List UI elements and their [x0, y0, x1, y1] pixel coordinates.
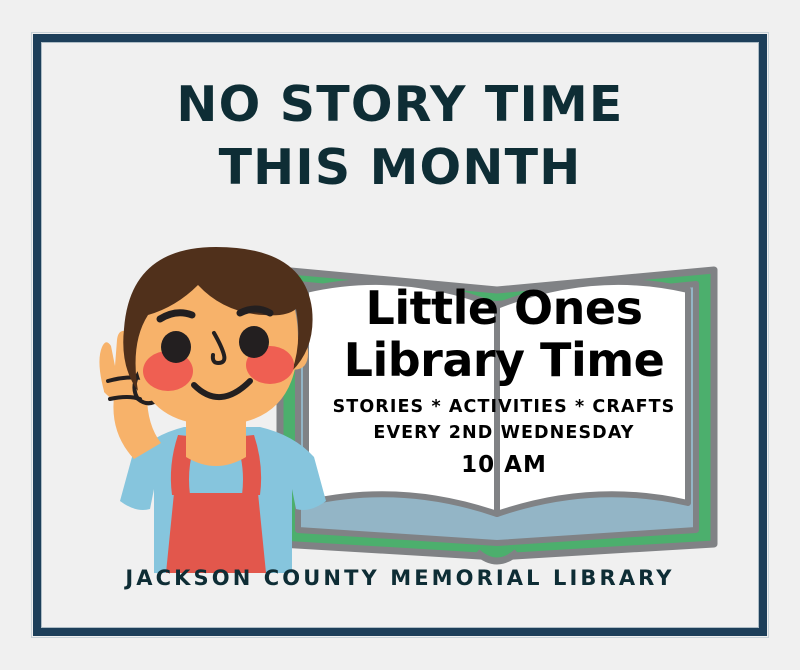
- book-page-text: Little Ones Library Time STORIES * ACTIV…: [318, 283, 690, 482]
- book-title-line-1: Little Ones: [318, 283, 690, 335]
- child-neck: [186, 419, 246, 466]
- book-detail-line-2: EVERY 2ND WEDNESDAY: [318, 421, 690, 447]
- headline-line-2: THIS MONTH: [60, 137, 740, 200]
- child-character-illustration: [74, 243, 354, 573]
- child-eye-right: [239, 326, 269, 358]
- book-detail-line-1: STORIES * ACTIVITIES * CRAFTS: [318, 395, 690, 421]
- child-eyebrow-right: [240, 309, 270, 313]
- book-event-time: 10 AM: [318, 449, 690, 482]
- poster-canvas: NO STORY TIME THIS MONTH Little Ones Lib…: [0, 0, 800, 670]
- book-title-line-2: Library Time: [318, 335, 690, 387]
- headline-line-1: NO STORY TIME: [60, 74, 740, 137]
- child-eye-left: [161, 331, 191, 363]
- child-hand-crease-lower: [110, 397, 140, 399]
- child-overalls-body: [164, 493, 268, 573]
- library-name: JACKSON COUNTY MEMORIAL LIBRARY: [60, 566, 740, 590]
- page-title: NO STORY TIME THIS MONTH: [60, 74, 740, 199]
- book-bookmark-notch: [477, 552, 517, 561]
